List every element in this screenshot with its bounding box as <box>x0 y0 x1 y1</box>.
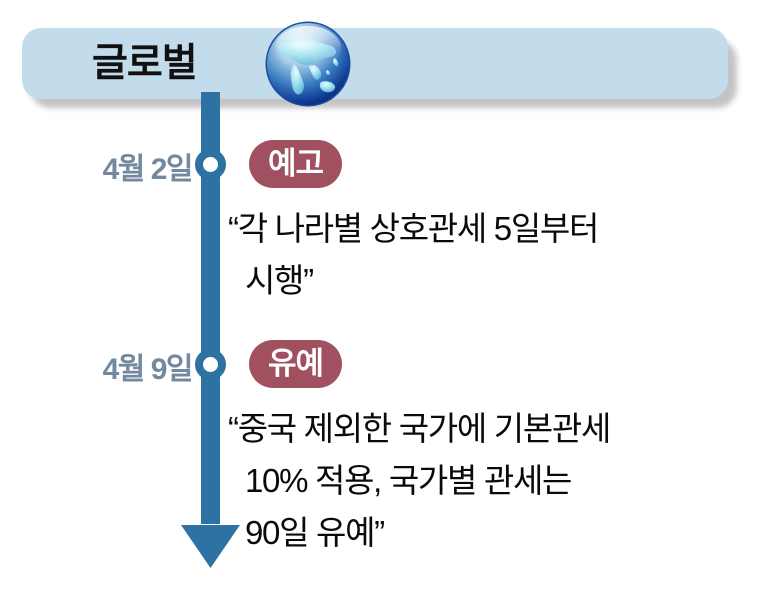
status-badge: 예고 <box>249 140 342 188</box>
timeline-date-label: 4월 2일 <box>103 144 192 188</box>
timeline-quote: “각 나라별 상호관세 5일부터 시행” <box>228 203 738 307</box>
status-badge: 유예 <box>249 340 342 388</box>
globe-icon <box>264 20 352 108</box>
timeline-marker <box>195 349 226 380</box>
timeline-infographic: 글로벌 <box>0 0 759 603</box>
timeline-date-label: 4월 9일 <box>103 344 192 388</box>
timeline-quote: “중국 제외한 국가에 기본관세 10% 적용, 국가별 관세는 90일 유예” <box>228 403 738 559</box>
timeline-marker <box>195 149 226 180</box>
page-title: 글로벌 <box>92 35 252 93</box>
